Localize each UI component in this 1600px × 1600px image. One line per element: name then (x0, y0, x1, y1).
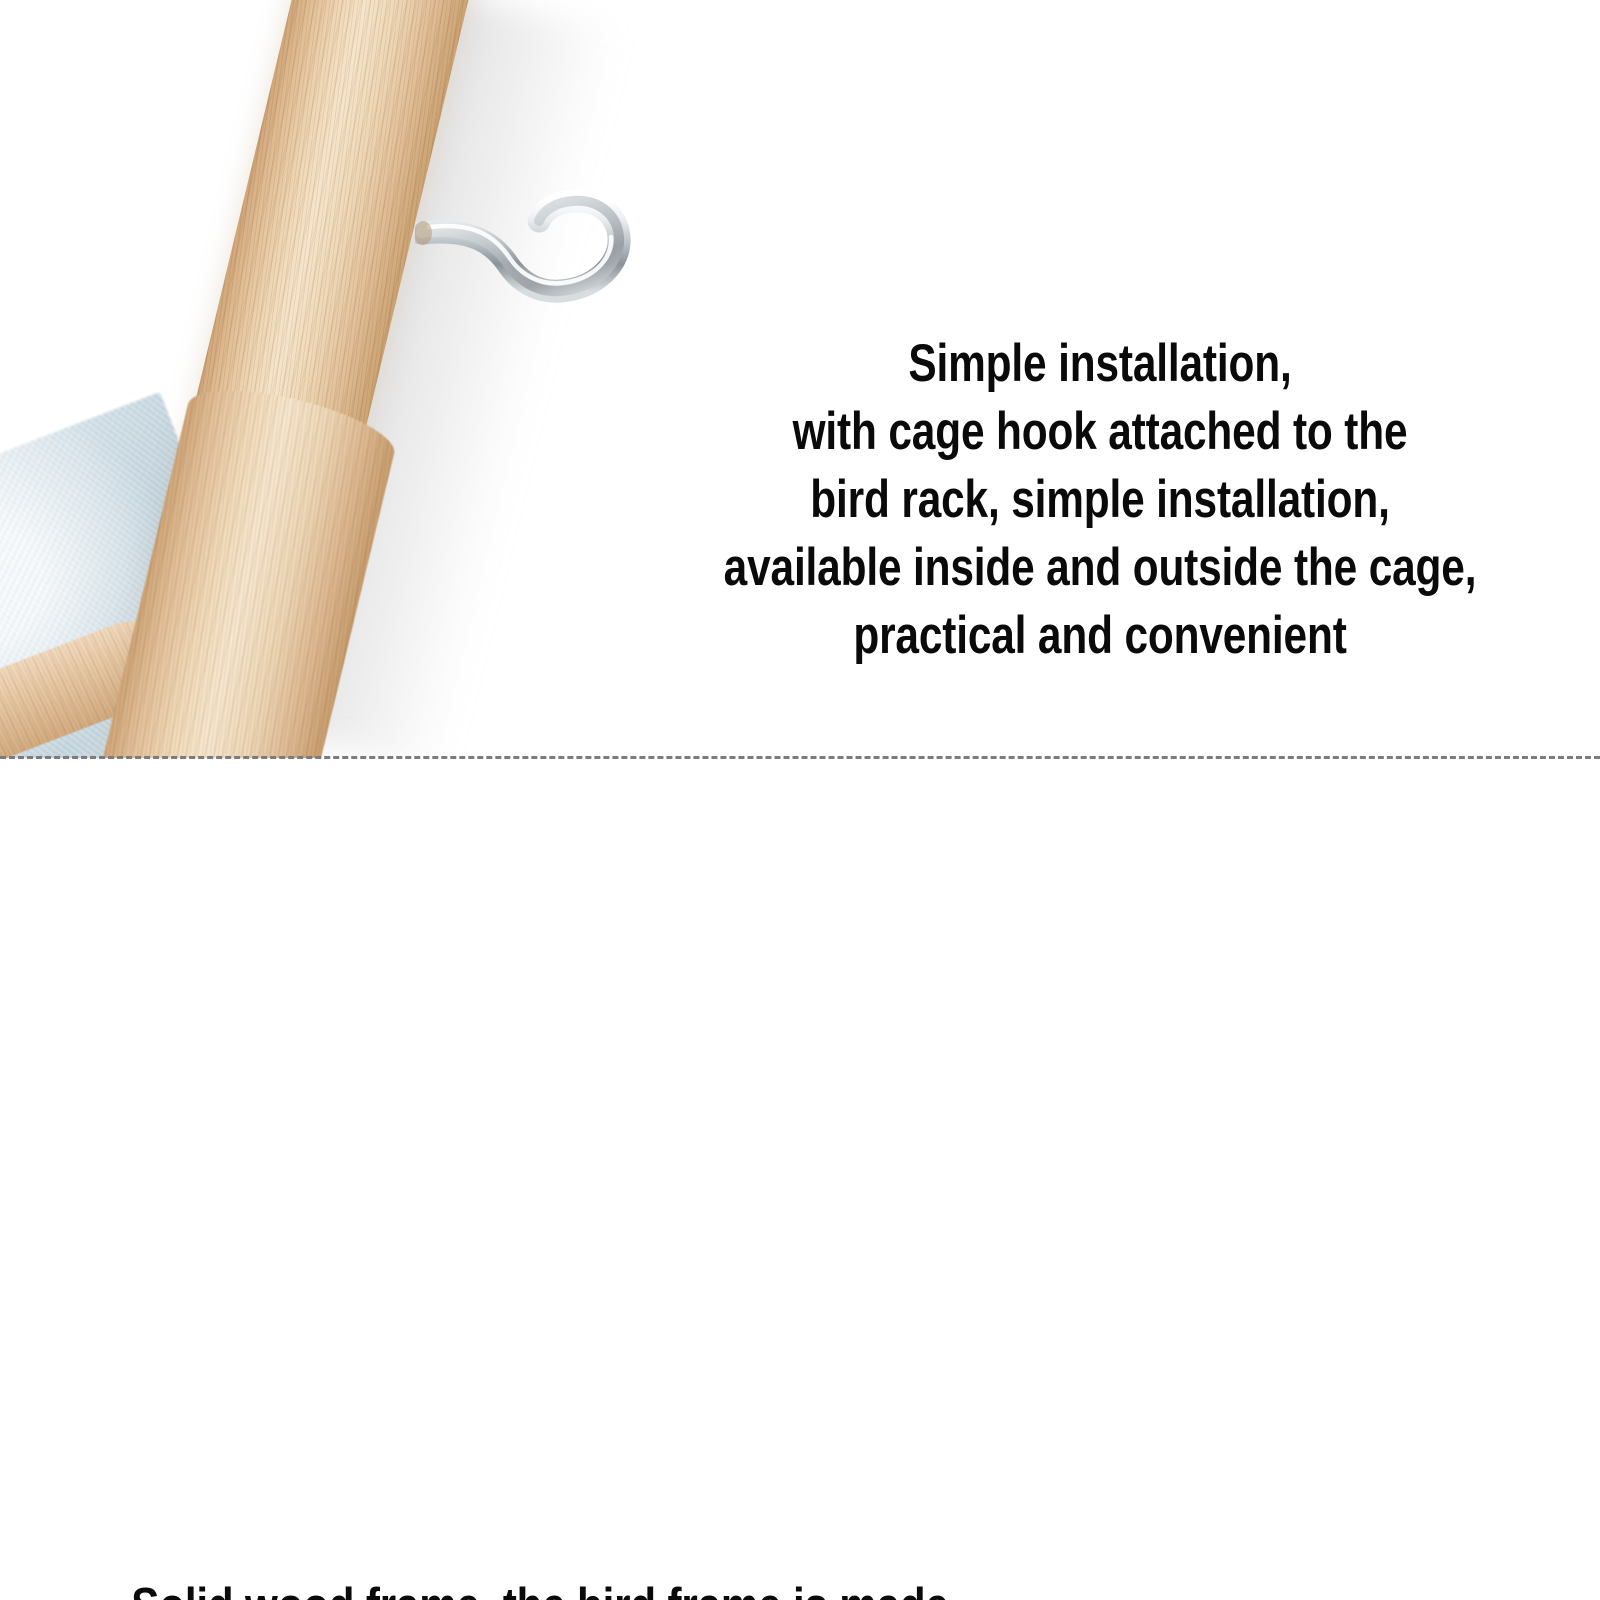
copy-line: available inside and outside the cage, (700, 534, 1500, 602)
copy-line: Solid wood frame, the bird frame is made (84, 1572, 996, 1600)
section-installation: Simple installation, with cage hook atta… (0, 0, 1600, 758)
copy-line: bird rack, simple installation, (700, 466, 1500, 534)
section-divider (0, 756, 1600, 759)
product-marketing-image: Simple installation, with cage hook atta… (0, 0, 1600, 1600)
cage-hook-icon (415, 185, 705, 385)
copy-line: with cage hook attached to the (700, 398, 1500, 466)
photo-cage-hook-closeup (0, 0, 780, 758)
installation-copy: Simple installation, with cage hook atta… (700, 330, 1500, 670)
section-solid-wood-frame: Solid wood frame, the bird frame is made… (0, 760, 1600, 1600)
solid-wood-frame-copy: Solid wood frame, the bird frame is made… (84, 1572, 996, 1600)
copy-line: practical and convenient (700, 602, 1500, 670)
copy-line: Simple installation, (700, 330, 1500, 398)
